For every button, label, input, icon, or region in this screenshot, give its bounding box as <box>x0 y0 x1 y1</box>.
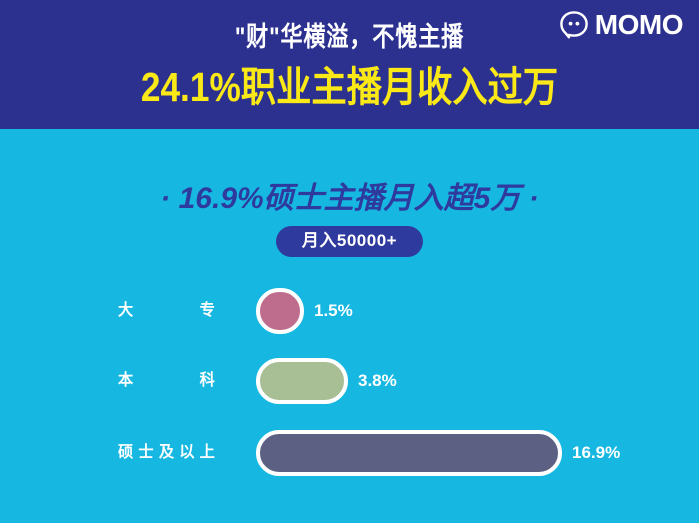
bar-value-label: 3.8% <box>358 353 397 409</box>
bar-track <box>256 353 348 409</box>
momo-speech-bubble-icon <box>559 10 589 40</box>
bar-value-label: 16.9% <box>572 425 620 481</box>
header-title: 24.1%职业主播月收入过万 <box>49 62 650 112</box>
bar-track <box>256 283 304 339</box>
education-income-bar-chart: 大专 1.5% 本科 3.8% 硕士及以上 16.9% <box>0 283 699 498</box>
bar-track <box>256 425 562 481</box>
bar-row: 大专 1.5% <box>0 283 699 339</box>
header-banner: "财"华横溢，不愧主播 24.1%职业主播月收入过万 MOMO <box>0 0 699 129</box>
bar-category-label: 本科 <box>118 353 215 409</box>
bar-fill <box>256 288 304 334</box>
bar-fill <box>256 358 348 404</box>
bar-row: 本科 3.8% <box>0 353 699 409</box>
badge-container: 月入50000+ <box>0 226 699 257</box>
header-subtitle: "财"华横溢，不愧主播 <box>63 20 636 54</box>
infographic-canvas: "财"华横溢，不愧主播 24.1%职业主播月收入过万 MOMO · 16.9%硕… <box>0 0 699 523</box>
bar-row: 硕士及以上 16.9% <box>0 425 699 481</box>
bar-category-label: 硕士及以上 <box>118 425 215 481</box>
momo-logo: MOMO <box>559 8 683 42</box>
momo-wordmark: MOMO <box>595 10 683 40</box>
bar-value-label: 1.5% <box>314 283 353 339</box>
bar-fill <box>256 430 562 476</box>
income-badge: 月入50000+ <box>276 226 423 257</box>
bar-category-label: 大专 <box>118 283 215 339</box>
section-title: · 16.9%硕士主播月入超5万 · <box>0 180 699 218</box>
